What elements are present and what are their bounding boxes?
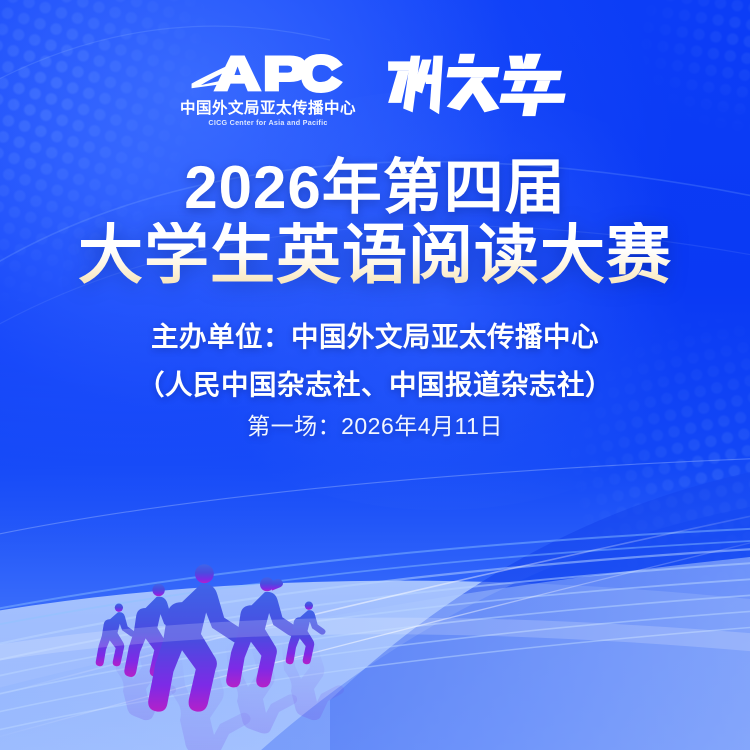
runner-silhouettes [96, 564, 326, 711]
apc-chinese-name: 中国外文局亚太传播中心 [180, 101, 356, 117]
apc-english-name: CICG Center for Asia and Pacific [208, 119, 327, 126]
page-title-line1: 2026年第四届 [0, 158, 750, 218]
apc-logo-icon [190, 52, 346, 98]
page-title-line2: 大学生英语阅读大赛 [0, 222, 750, 287]
organizer-line1: 主办单位：中国外文局亚太传播中心 [0, 323, 750, 351]
runner-reflections [114, 640, 344, 750]
poster-canvas: 中国外文局亚太传播中心 CICG Center for Asia and Pac… [0, 0, 750, 750]
logo-row: 中国外文局亚太传播中心 CICG Center for Asia and Pac… [0, 48, 750, 130]
honeycomb-texture-right [427, 297, 750, 724]
schedule-session: 第一场：2026年4月11日 [0, 415, 750, 438]
waiwenjiang-logo-icon [380, 50, 570, 118]
apc-logo: 中国外文局亚太传播中心 CICG Center for Asia and Pac… [180, 52, 356, 127]
organizer-line2: （人民中国杂志社、中国报道杂志社） [0, 371, 750, 399]
center-glow [130, 90, 750, 510]
